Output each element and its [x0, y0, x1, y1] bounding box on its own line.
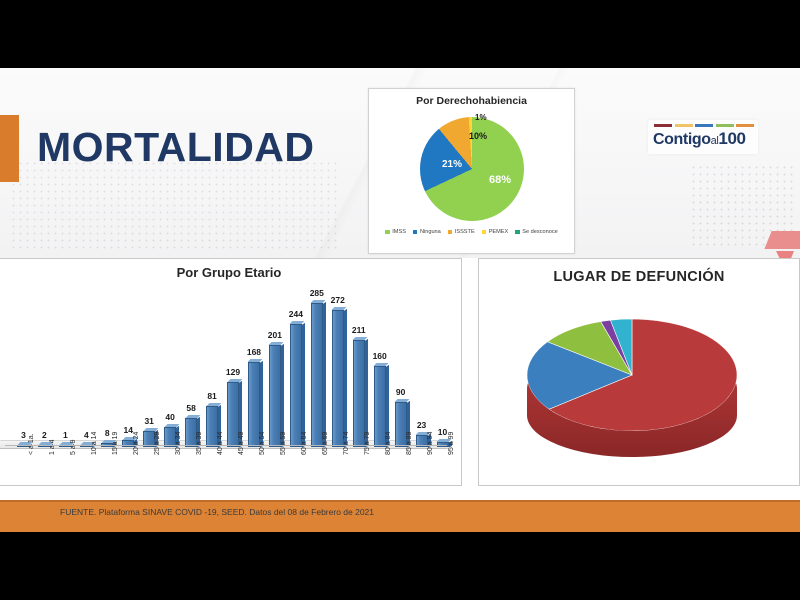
- bar-column[interactable]: 160: [374, 285, 386, 447]
- bar-column[interactable]: 4: [80, 285, 92, 447]
- bar-value-label: 81: [198, 391, 226, 401]
- legend-label: Se desconoce: [522, 229, 557, 235]
- bar-category-label: 1 a 4: [49, 439, 56, 455]
- bar-category-label: 55 a 59: [280, 432, 287, 455]
- legend-item-se-desconoce[interactable]: Se desconoce: [515, 229, 557, 235]
- bar-rect: [374, 366, 386, 447]
- bar-column[interactable]: 58: [185, 285, 197, 447]
- bar-column[interactable]: 211: [353, 285, 365, 447]
- logo-color-bars: [654, 124, 754, 127]
- letterbox-top: [0, 0, 800, 68]
- bar-rect: [311, 303, 323, 447]
- pie-3d-slices: [527, 319, 737, 431]
- bar-category-label: 70 a 74: [343, 432, 350, 455]
- footer-source-text: FUENTE. Plataforma SINAVE COVID -19, SEE…: [60, 507, 374, 517]
- legend-item-pemex[interactable]: PEMEX: [482, 229, 509, 235]
- bar-column[interactable]: 272: [332, 285, 344, 447]
- logo-color-bar-2: [695, 124, 713, 127]
- legend-swatch-icon: [515, 230, 520, 235]
- bar-rect: [290, 324, 302, 447]
- bar-column[interactable]: 10: [437, 285, 449, 447]
- logo-text-part1: Contigo: [653, 131, 711, 148]
- chart-title-lugar-defuncion: LUGAR DE DEFUNCIÓN: [479, 269, 799, 285]
- bar-category-label: 50 a 54: [259, 432, 266, 455]
- footer-top-line: [0, 500, 800, 502]
- bar-column[interactable]: 1: [59, 285, 71, 447]
- legend-item-ninguna[interactable]: Ninguna: [413, 229, 441, 235]
- chart-title-derechohabiencia: Por Derechohabiencia: [369, 95, 574, 107]
- bar-column[interactable]: 31: [143, 285, 155, 447]
- legend-label: ISSSTE: [455, 229, 475, 235]
- slide-footer-band: FUENTE. Plataforma SINAVE COVID -19, SEE…: [0, 500, 800, 532]
- screenshot-canvas: MORTALIDAD Contigoal100 Por Derechohabie…: [0, 0, 800, 600]
- bar-column[interactable]: 40: [164, 285, 176, 447]
- legend-label: PEMEX: [489, 229, 509, 235]
- bar-category-label: 45 a 49: [238, 432, 245, 455]
- bar-column[interactable]: 81: [206, 285, 218, 447]
- bar-value-label: 129: [219, 367, 247, 377]
- chart-panel-grupo-etario: Por Grupo Etario 3< a 1a.21 a 415 a 9410…: [0, 258, 462, 486]
- bar-rect: [332, 310, 344, 447]
- bar-column[interactable]: 23: [416, 285, 428, 447]
- bar-category-label: 30 a 34: [175, 432, 182, 455]
- page-title: MORTALIDAD: [37, 115, 315, 179]
- chart-legend-derechohabiencia: IMSSNingunaISSSTEPEMEXSe desconoce: [369, 229, 574, 235]
- logo-contigo-al-100: Contigoal100: [648, 120, 758, 154]
- bar-column[interactable]: 3: [17, 285, 29, 447]
- pie-chart-lugar-defuncion: [527, 311, 737, 461]
- pie-slice-label-issste: 10%: [469, 131, 487, 141]
- bar-value-label: 58: [177, 403, 205, 413]
- bar-top-face: [164, 424, 179, 427]
- bar-value-label: 40: [156, 412, 184, 422]
- bar-column[interactable]: 201: [269, 285, 281, 447]
- chart-panel-lugar-defuncion: LUGAR DE DEFUNCIÓN IMSS, 1313 ISSEA, 419…: [478, 258, 800, 486]
- bar-top-face: [206, 403, 221, 406]
- bar-value-label: 90: [387, 387, 415, 397]
- legend-label: IMSS: [392, 229, 406, 235]
- bar-category-label: 85 a 89: [406, 432, 413, 455]
- logo-color-bar-1: [675, 124, 693, 127]
- ribbon-decoration-a: [764, 231, 800, 249]
- bar-category-label: 60 a 64: [301, 432, 308, 455]
- letterbox-bottom: [0, 532, 800, 600]
- bar-column[interactable]: 90: [395, 285, 407, 447]
- bar-top-face: [227, 379, 242, 382]
- bar-chart-plot-area: 3< a 1a.21 a 415 a 9410 a 14815 a 191420…: [11, 285, 451, 447]
- legend-item-issste[interactable]: ISSSTE: [448, 229, 475, 235]
- bar-column[interactable]: 8: [101, 285, 113, 447]
- logo-color-bar-3: [716, 124, 734, 127]
- bar-column[interactable]: 14: [122, 285, 134, 447]
- slide-body: Por Grupo Etario 3< a 1a.21 a 415 a 9410…: [0, 258, 800, 532]
- bar-category-label: 20 a 24: [133, 432, 140, 455]
- bar-rect: [395, 402, 407, 447]
- bar-column[interactable]: 244: [290, 285, 302, 447]
- pie-slice-label-ninguna: 21%: [442, 159, 462, 170]
- bar-value-label: 201: [261, 330, 289, 340]
- orange-accent-bar: [0, 115, 19, 182]
- bar-value-label: 211: [345, 325, 373, 335]
- legend-swatch-icon: [385, 230, 390, 235]
- bar-category-label: 25 a 29: [154, 432, 161, 455]
- bar-value-label: 160: [366, 351, 394, 361]
- bar-category-label: 65 a 69: [322, 432, 329, 455]
- chart-panel-derechohabiencia: Por Derechohabiencia 68% 21% 10% 1% IMSS…: [368, 88, 575, 254]
- logo-color-bar-4: [736, 124, 754, 127]
- legend-label: Ninguna: [420, 229, 441, 235]
- bar-chart-axis-line: [5, 445, 447, 446]
- legend-swatch-icon: [482, 230, 487, 235]
- bar-top-face: [395, 399, 410, 402]
- bar-column[interactable]: 2: [38, 285, 50, 447]
- pie-3d-top-face: [527, 319, 737, 431]
- bar-category-label: 35 a 39: [196, 432, 203, 455]
- bar-rect: [353, 340, 365, 447]
- bar-category-label: 75 a 79: [364, 432, 371, 455]
- bar-category-label: 95 a 99: [448, 432, 455, 455]
- chart-title-grupo-etario: Por Grupo Etario: [0, 265, 461, 280]
- logo-color-bar-0: [654, 124, 672, 127]
- logo-text-part3: 100: [718, 129, 745, 148]
- pie-slice-label-imss: 68%: [489, 174, 511, 186]
- slide-header-band: MORTALIDAD Contigoal100 Por Derechohabie…: [0, 68, 800, 258]
- bar-category-label: 40 a 44: [217, 432, 224, 455]
- bar-column[interactable]: 285: [311, 285, 323, 447]
- legend-swatch-icon: [448, 230, 453, 235]
- legend-item-imss[interactable]: IMSS: [385, 229, 406, 235]
- bar-category-label: 15 a 19: [112, 432, 119, 455]
- presentation-slide: MORTALIDAD Contigoal100 Por Derechohabie…: [0, 68, 800, 532]
- logo-text: Contigoal100: [653, 129, 746, 151]
- bar-column[interactable]: 129: [227, 285, 239, 447]
- bar-column[interactable]: 168: [248, 285, 260, 447]
- bar-value-label: 272: [324, 295, 352, 305]
- pie-slice-label-pemex: 1%: [475, 113, 487, 122]
- bar-side-face: [302, 323, 305, 448]
- bar-category-label: 80 a 84: [385, 432, 392, 455]
- bar-value-label: 168: [240, 347, 268, 357]
- legend-swatch-icon: [413, 230, 418, 235]
- bar-side-face: [323, 302, 326, 448]
- bar-value-label: 244: [282, 309, 310, 319]
- bar-category-label: 5 a 9: [70, 439, 77, 455]
- bar-top-face: [185, 415, 200, 418]
